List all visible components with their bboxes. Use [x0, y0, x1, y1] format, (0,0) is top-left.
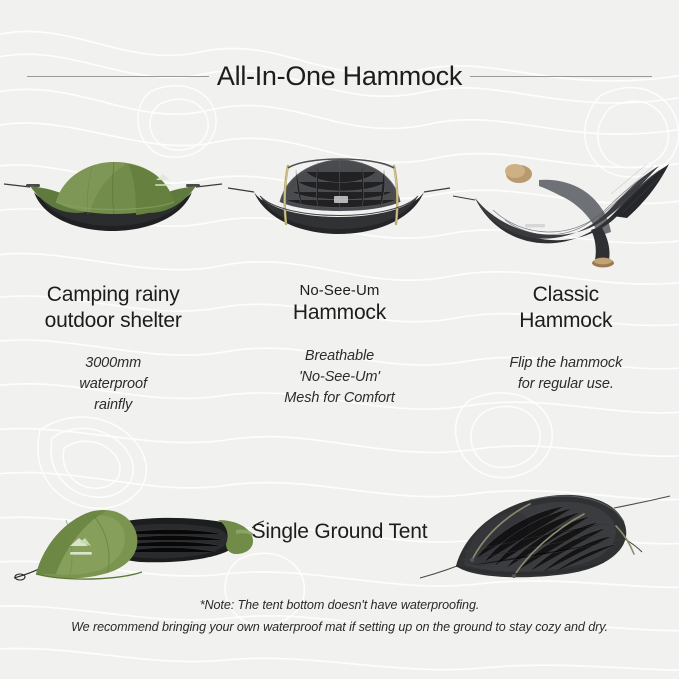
title-rule-right	[470, 76, 652, 77]
caption-no-see-um-hammock: No-See-Um Hammock Breathable 'No-See-Um'…	[284, 282, 394, 409]
subtitle-line2: waterproof	[45, 374, 182, 395]
mesh-canopy-hammock-image	[226, 140, 452, 270]
column-subtitle: Flip the hammock for regular use.	[509, 353, 622, 395]
mesh-ground-tent-image	[418, 474, 673, 592]
column-heading-line2: outdoor shelter	[45, 308, 182, 334]
subtitle-line1: 3000mm	[45, 353, 182, 374]
column-heading-line1: Classic	[509, 282, 622, 308]
footnote-line1: *Note: The tent bottom doesn't have wate…	[0, 594, 679, 616]
subtitle-line1: Breathable	[284, 346, 394, 367]
footnote-line2: We recommend bringing your own waterproo…	[0, 616, 679, 638]
column-subtitle: 3000mm waterproof rainfly	[45, 353, 182, 416]
column-classic-hammock: Classic Hammock Flip the hammock for reg…	[453, 140, 679, 430]
single-ground-tent-section: Single Ground Tent	[0, 452, 679, 612]
column-no-see-um-hammock: No-See-Um Hammock Breathable 'No-See-Um'…	[226, 140, 452, 430]
subtitle-line2: 'No-See-Um'	[284, 367, 394, 388]
caption-classic-hammock: Classic Hammock Flip the hammock for reg…	[509, 282, 622, 395]
subtitle-line3: Mesh for Comfort	[284, 388, 394, 409]
subtitle-line1: Flip the hammock	[509, 353, 622, 374]
column-camping-rainy-outdoor-shelter: Camping rainy outdoor shelter 3000mm wat…	[0, 140, 226, 430]
column-heading-line2: Hammock	[509, 308, 622, 334]
footnote: *Note: The tent bottom doesn't have wate…	[0, 594, 679, 638]
caption-camping-rainy-outdoor-shelter: Camping rainy outdoor shelter 3000mm wat…	[45, 282, 182, 416]
column-heading-line1: Camping rainy	[45, 282, 182, 308]
classic-hammock-with-person-image	[453, 140, 679, 270]
subtitle-line2: for regular use.	[509, 374, 622, 395]
product-columns: Camping rainy outdoor shelter 3000mm wat…	[0, 140, 679, 430]
subtitle-line3: rainfly	[45, 395, 182, 416]
title-rule-left	[27, 76, 209, 77]
column-heading-small: No-See-Um	[284, 282, 394, 300]
column-heading-line1: Hammock	[284, 300, 394, 326]
page-title: All-In-One Hammock	[217, 63, 462, 90]
column-subtitle: Breathable 'No-See-Um' Mesh for Comfort	[284, 346, 394, 409]
header: All-In-One Hammock	[0, 56, 679, 96]
green-rainfly-hammock-image	[0, 140, 226, 270]
